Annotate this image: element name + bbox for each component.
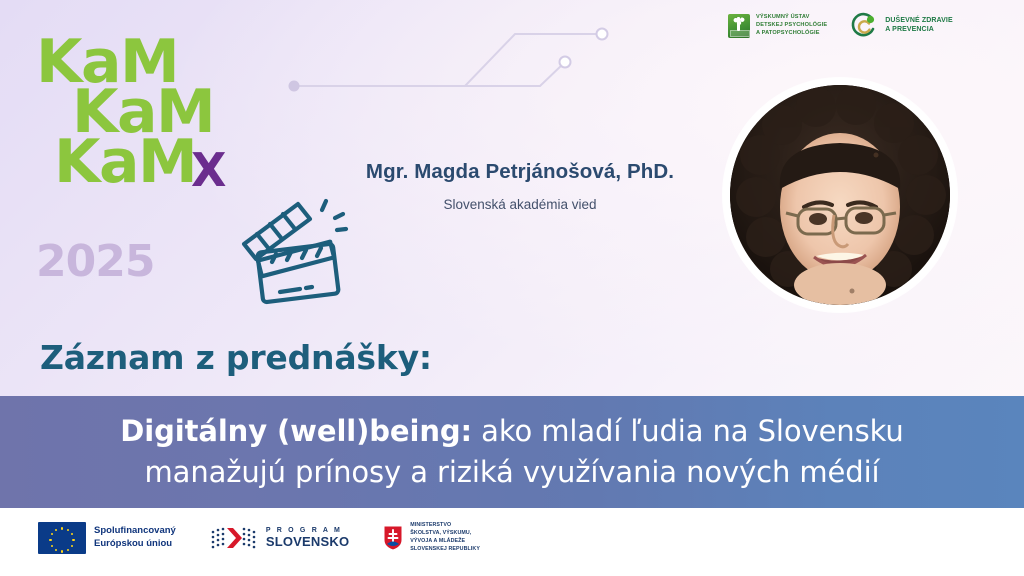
logo-ministerstvo-label: MINISTERSTVO ŠKOLSTVA, VÝSKUMU, VÝVOJA A… bbox=[410, 522, 480, 554]
title-line-1: Digitálny (well)being: ako mladí ľudia n… bbox=[0, 411, 1024, 452]
speaker-name: Mgr. Magda Petrjánošová, PhD. bbox=[345, 160, 695, 184]
circuit-line-top-icon bbox=[275, 18, 675, 138]
clapperboard-icon bbox=[236, 196, 354, 308]
speaker-affiliation: Slovenská akadémia vied bbox=[345, 197, 695, 212]
logo-eu-label: Spolufinancovaný Európskou úniou bbox=[94, 525, 176, 551]
title-line-2: manažujú prínosy a riziká využívania nov… bbox=[0, 452, 1024, 493]
kam-logo-line-3: KaM bbox=[36, 138, 266, 188]
spiral-icon bbox=[849, 11, 879, 41]
tree-icon bbox=[728, 14, 750, 38]
footer: Spolufinancovaný Európskou úniou bbox=[0, 508, 1024, 576]
portrait-photo bbox=[730, 85, 950, 305]
kam-logo-year: 2025 bbox=[36, 236, 154, 287]
eu-flag-icon bbox=[38, 522, 86, 554]
title-bold-part: Digitálny (well)being: bbox=[120, 414, 472, 448]
slovak-coat-of-arms-icon bbox=[383, 525, 403, 551]
avatar bbox=[730, 85, 950, 305]
speaker-block: Mgr. Magda Petrjánošová, PhD. Slovenská … bbox=[345, 160, 695, 212]
logo-eu: Spolufinancovaný Európskou úniou bbox=[38, 522, 176, 554]
logo-dusevne-zdravie-label: DUŠEVNÉ ZDRAVIE A PREVENCIA bbox=[885, 17, 953, 35]
ps-line-2: SLOVENSKO bbox=[266, 535, 349, 550]
logo-vudpap: VÝSKUMNÝ ÚSTAV DETSKEJ PSYCHOLÓGIE A PAT… bbox=[728, 14, 827, 38]
title-banner: Digitálny (well)being: ako mladí ľudia n… bbox=[0, 396, 1024, 508]
program-slovensko-mark-icon bbox=[210, 524, 258, 552]
logo-ministerstvo: MINISTERSTVO ŠKOLSTVA, VÝSKUMU, VÝVOJA A… bbox=[383, 522, 480, 554]
logo-vudpap-label: VÝSKUMNÝ ÚSTAV DETSKEJ PSYCHOLÓGIE A PAT… bbox=[756, 14, 827, 38]
logo-dusevne-zdravie: DUŠEVNÉ ZDRAVIE A PREVENCIA bbox=[849, 11, 953, 41]
record-label: Záznam z prednášky: bbox=[40, 338, 432, 377]
partner-logos-top: VÝSKUMNÝ ÚSTAV DETSKEJ PSYCHOLÓGIE A PAT… bbox=[728, 8, 1016, 44]
title-rest-line-1: ako mladí ľudia na Slovensku bbox=[472, 414, 904, 448]
presentation-slide: VÝSKUMNÝ ÚSTAV DETSKEJ PSYCHOLÓGIE A PAT… bbox=[0, 0, 1024, 576]
kam-logo-x: X bbox=[191, 143, 226, 197]
logo-program-slovensko: P R O G R A M SLOVENSKO bbox=[210, 524, 349, 552]
kam-logo: KaM KaM KaM bbox=[36, 38, 266, 187]
logo-program-slovensko-label: P R O G R A M SLOVENSKO bbox=[266, 527, 349, 549]
